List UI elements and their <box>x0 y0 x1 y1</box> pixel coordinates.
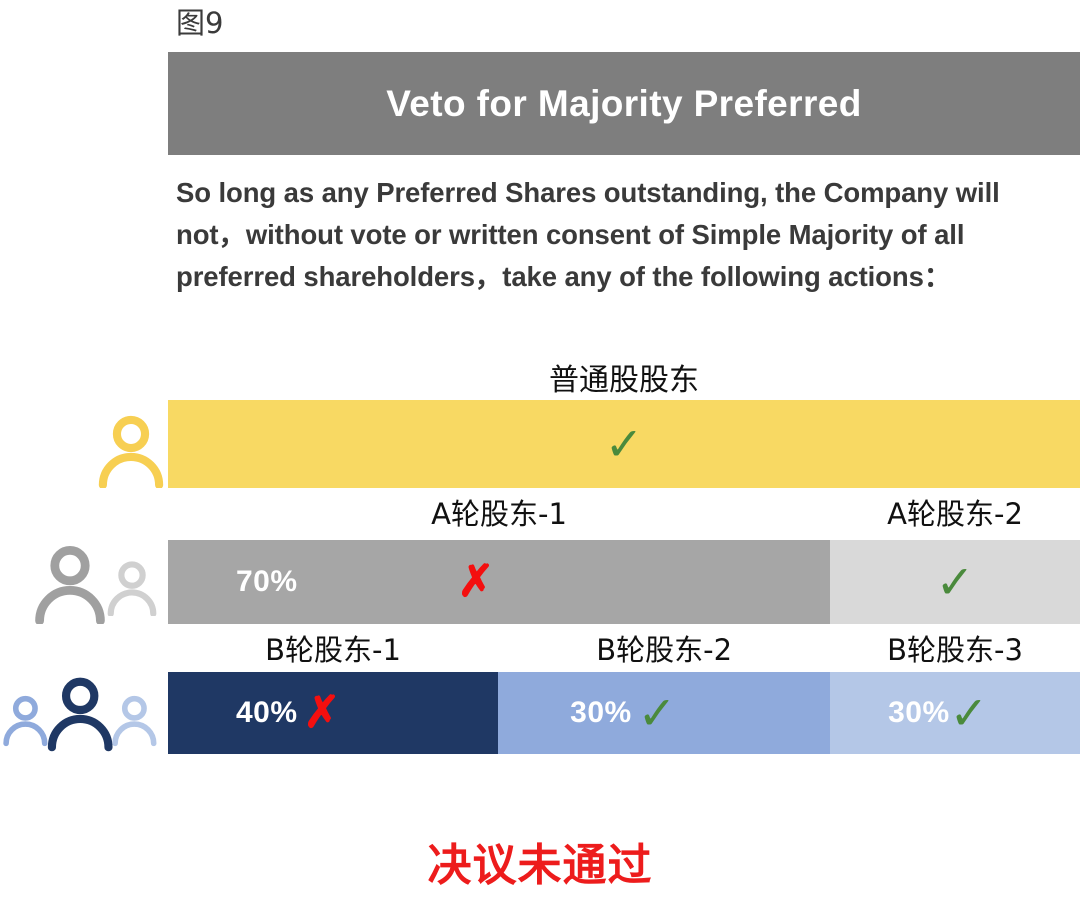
approve-check-icon: ✓ <box>950 690 989 736</box>
row-labels-b-round: B轮股东-1B轮股东-2B轮股东-3 <box>168 627 1080 669</box>
bar-segment-b-round-3[interactable]: 30%✓ <box>830 672 1080 754</box>
common-shareholder-header: 普通股股东 <box>168 355 1080 399</box>
row-labels-a-round: A轮股东-1A轮股东-2 <box>168 491 1080 533</box>
segment-content: ✓ <box>605 421 644 467</box>
person-icon <box>30 544 110 624</box>
bar-segment-b-round-2[interactable]: 30%✓ <box>498 672 830 754</box>
segment-content: ✓ <box>936 559 975 605</box>
bar-segment-a-round-2[interactable]: ✓ <box>830 540 1080 624</box>
person-icon <box>94 414 168 488</box>
bar-row-common: ✓ <box>168 400 1080 488</box>
bar-row-b-round: 40%✗30%✓30%✓ <box>168 672 1080 754</box>
segment-content: 70%✗ <box>236 560 494 604</box>
people-group-a-round <box>0 538 160 624</box>
segment-percent: 30% <box>570 696 632 730</box>
segment-percent: 70% <box>236 565 298 599</box>
people-group-b-round <box>0 670 160 754</box>
segment-percent: 40% <box>236 696 298 730</box>
person-icon <box>109 692 160 748</box>
approve-check-icon: ✓ <box>638 690 677 736</box>
segment-content: 40%✗ <box>236 691 340 735</box>
shareholder-label: B轮股东-1 <box>168 627 498 669</box>
people-group-common <box>8 400 168 488</box>
reject-cross-icon: ✗ <box>304 691 341 735</box>
approve-check-icon: ✓ <box>936 559 975 605</box>
reject-cross-icon: ✗ <box>458 560 495 604</box>
person-icon <box>43 672 117 754</box>
segment-content: 30%✓ <box>570 690 676 736</box>
bar-segment-common-1[interactable]: ✓ <box>168 400 1080 488</box>
approve-check-icon: ✓ <box>605 421 644 467</box>
shareholder-label: B轮股东-3 <box>830 627 1080 669</box>
shareholder-label: B轮股东-2 <box>498 627 830 669</box>
person-icon <box>104 560 160 616</box>
bar-segment-a-round-1[interactable]: 70%✗ <box>168 540 830 624</box>
shareholder-label: A轮股东-1 <box>168 491 830 533</box>
page-title: Veto for Majority Preferred <box>386 83 862 125</box>
shareholder-label: A轮股东-2 <box>830 491 1080 533</box>
segment-percent: 30% <box>888 696 950 730</box>
title-banner: Veto for Majority Preferred <box>168 52 1080 155</box>
bar-row-a-round: 70%✗✓ <box>168 540 1080 624</box>
result-status: 决议未通过 <box>0 829 1080 893</box>
segment-content: 30%✓ <box>888 690 988 736</box>
figure-label: 图9 <box>176 6 223 41</box>
body-paragraph: So long as any Preferred Shares outstand… <box>176 172 1076 298</box>
bar-segment-b-round-1[interactable]: 40%✗ <box>168 672 498 754</box>
